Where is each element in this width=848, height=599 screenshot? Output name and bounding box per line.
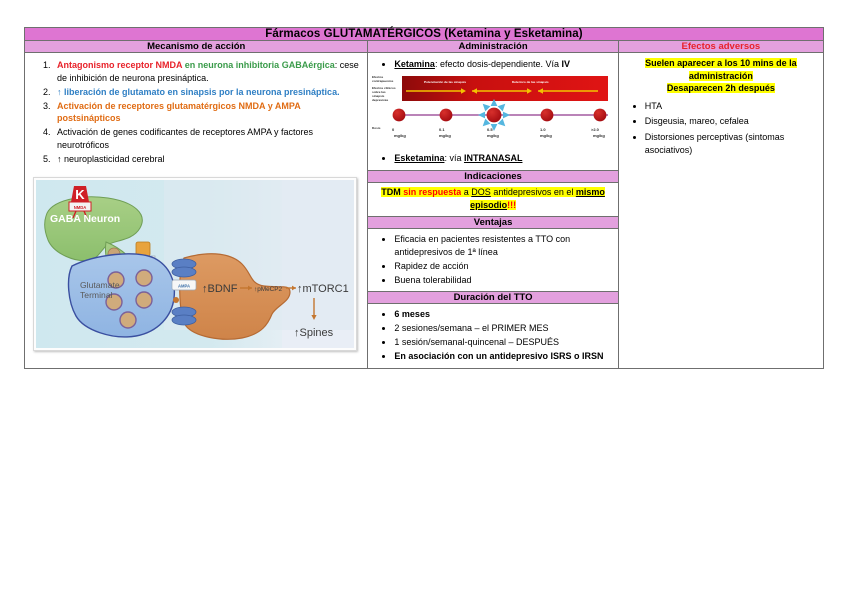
esketamina-bullet: Esketamina: vía INTRANASAL	[394, 152, 613, 164]
duracion-item: 2 sesiones/semana – el PRIMER MES	[394, 322, 613, 334]
efecto-adverso-item: Distorsiones perceptivas (sintomas asoci…	[645, 131, 817, 156]
svg-text:>2.0: >2.0	[591, 127, 600, 132]
svg-text:contrapuestos: contrapuestos	[372, 79, 394, 83]
indicaciones-part-0: TDM	[381, 187, 403, 197]
mechanism-item-1-part-1: en neurona inhibitoria GABAérgica	[185, 60, 335, 70]
document-page: Fármacos GLUTAMATÉRGICOS (Ketamina y Esk…	[0, 0, 848, 599]
mecanismo-cell: Antagonismo receptor NMDA en neurona inh…	[25, 53, 368, 369]
ketamina-text: : efecto dosis-dependiente. Vía	[435, 59, 562, 69]
esketamina-text: : vía	[444, 153, 464, 163]
dose-tick-labels: 0 mg/kg 0.1 mg/kg 0.5 mg/kg 1.0 mg/kg >2…	[392, 127, 605, 138]
svg-text:Potenciación de las sinapsis: Potenciación de las sinapsis	[424, 80, 466, 84]
ampa-receptor-tag-1: AMPA	[178, 284, 190, 289]
indicaciones-part-3: DOS	[471, 187, 491, 197]
header-mecanismo: Mecanismo de acción	[25, 41, 368, 53]
efectos-adversos-content: Suelen aparecer a los 10 mins de la admi…	[619, 53, 823, 163]
adverse-head-line3: Desaparecen 2h después	[667, 83, 775, 93]
esketamina-bullets: Esketamina: vía INTRANASAL	[372, 152, 613, 164]
ketamina-name: Ketamina	[394, 59, 435, 69]
duracion-list: 6 meses2 sesiones/semana – el PRIMER MES…	[372, 308, 613, 362]
svg-text:mg/kg: mg/kg	[439, 133, 451, 138]
mechanism-item-2: ↑ liberación de glutamato en sinapsis po…	[53, 86, 361, 99]
mechanism-item-4: Activación de genes codificantes de rece…	[53, 126, 361, 151]
duracion-cell: 6 meses2 sesiones/semana – el PRIMER MES…	[368, 304, 618, 369]
neuron-diagram: K NMDA GABA Neuron GABA	[33, 177, 357, 351]
body-row: Antagonismo receptor NMDA en neurona inh…	[25, 53, 824, 171]
header-duracion: Duración del TTO	[368, 292, 618, 304]
main-table: Fármacos GLUTAMATÉRGICOS (Ketamina y Esk…	[24, 27, 824, 369]
cascade-mtorc1: ↑mTORC1	[297, 283, 349, 295]
cascade-bdnf: ↑BDNF	[202, 283, 238, 295]
ventajas-item: Rapidez de acción	[394, 260, 613, 272]
mechanism-item-1: Antagonismo receptor NMDA en neurona inh…	[53, 59, 361, 84]
mecanismo-content: Antagonismo receptor NMDA en neurona inh…	[25, 53, 367, 169]
dose-point-1	[440, 109, 453, 122]
indicaciones-part-6: !!!	[507, 200, 516, 210]
efectos-adversos-cell: Suelen aparecer a los 10 mins de la admi…	[618, 53, 823, 369]
header-ventajas: Ventajas	[368, 217, 618, 229]
ventajas-list: Eficacia en pacientes resistentes a TTO …	[372, 233, 613, 286]
dose-point-4	[594, 109, 607, 122]
ketamina-route: IV	[562, 59, 571, 69]
ventajas-cell: Eficacia en pacientes resistentes a TTO …	[368, 229, 618, 292]
svg-text:mg/kg: mg/kg	[487, 133, 499, 138]
mechanism-item-5: ↑ neuroplasticidad cerebral	[53, 153, 361, 166]
neuron-diagram-canvas: K NMDA GABA Neuron GABA	[36, 180, 354, 348]
duracion-item: En asociación con un antidepresivo ISRS …	[394, 350, 613, 362]
esketamina-name: Esketamina	[394, 153, 444, 163]
svg-text:0.5: 0.5	[487, 127, 493, 132]
neuron-svg: K NMDA GABA Neuron GABA	[36, 180, 354, 348]
svg-text:mg/kg: mg/kg	[394, 133, 406, 138]
esketamina-route: INTRANASAL	[464, 153, 523, 163]
svg-text:0: 0	[392, 127, 395, 132]
svg-text:Dosis: Dosis	[372, 126, 381, 130]
adverse-head-line2: administración	[689, 71, 753, 81]
glutamate-terminal-label-1: Glutamate	[80, 280, 120, 290]
dose-point-3	[541, 109, 554, 122]
title-row: Fármacos GLUTAMATÉRGICOS (Ketamina y Esk…	[25, 28, 824, 41]
ketamina-bullet: Ketamina: efecto dosis-dependiente. Vía …	[394, 58, 613, 70]
mechanism-item-3-part-0: Activación de receptores glutamatérgicos…	[57, 101, 300, 124]
cascade-pmecp2: ↑pMeCP2	[254, 286, 283, 293]
svg-text:depresivas: depresivas	[372, 98, 388, 102]
indicaciones-text: TDM sin respuesta a DOS antidepresivos e…	[368, 183, 617, 216]
dose-response-figure: Efectos contrapuestos Efectos clínicos s…	[372, 73, 612, 148]
administracion-cell: Ketamina: efecto dosis-dependiente. Vía …	[368, 53, 618, 171]
administration-bullets: Ketamina: efecto dosis-dependiente. Vía …	[372, 58, 613, 70]
indicaciones-part-1: sin respuesta	[403, 187, 461, 197]
duracion-item: 1 sesión/semanal-quincenal – DESPUÉS	[394, 336, 613, 348]
svg-text:mg/kg: mg/kg	[593, 133, 605, 138]
page-title: Fármacos GLUTAMATÉRGICOS (Ketamina y Esk…	[25, 28, 824, 41]
mechanism-item-5-part-0: ↑ neuroplasticidad cerebral	[57, 154, 165, 164]
dose-point-0	[393, 109, 406, 122]
administracion-content: Ketamina: efecto dosis-dependiente. Vía …	[368, 53, 617, 170]
dose-left-labels: Efectos contrapuestos Efectos clínicos s…	[372, 75, 396, 130]
dose-figure-svg: Efectos contrapuestos Efectos clínicos s…	[372, 73, 612, 148]
k-sub-label: NMDA	[74, 205, 87, 210]
header-administracion: Administración	[368, 41, 618, 53]
indicaciones-cell: TDM sin respuesta a DOS antidepresivos e…	[368, 183, 618, 217]
dose-point-2	[487, 108, 502, 123]
mechanism-item-3: Activación de receptores glutamatérgicos…	[53, 100, 361, 125]
mechanism-item-1-part-0: Antagonismo receptor NMDA	[57, 60, 185, 70]
k-label: K	[75, 187, 85, 202]
svg-text:1.0: 1.0	[540, 127, 546, 132]
header-efectos-adversos: Efectos adversos	[618, 41, 823, 53]
duracion-content: 6 meses2 sesiones/semana – el PRIMER MES…	[368, 304, 617, 368]
svg-text:Deterioro de las sinapsis: Deterioro de las sinapsis	[512, 80, 549, 84]
ventajas-item: Buena tolerabilidad	[394, 274, 613, 286]
efecto-adverso-item: HTA	[645, 100, 817, 113]
ventajas-content: Eficacia en pacientes resistentes a TTO …	[368, 229, 617, 291]
indicaciones-part-2: a	[461, 187, 471, 197]
mechanism-list: Antagonismo receptor NMDA en neurona inh…	[29, 59, 361, 166]
svg-text:0.1: 0.1	[439, 127, 445, 132]
ventajas-item: Eficacia en pacientes resistentes a TTO …	[394, 233, 613, 258]
mechanism-item-4-part-0: Activación de genes codificantes de rece…	[57, 127, 313, 150]
efecto-adverso-item: Disgeusia, mareo, cefalea	[645, 115, 817, 128]
indicaciones-part-4: antidepresivos en el	[491, 187, 576, 197]
glutamate-terminal-label-2: Terminal	[80, 290, 113, 300]
duracion-item: 6 meses	[394, 308, 613, 320]
adverse-onset-note: Suelen aparecer a los 10 mins de la admi…	[625, 57, 817, 95]
svg-text:mg/kg: mg/kg	[540, 133, 552, 138]
adverse-head-line1: Suelen aparecer a los 10 mins de la	[645, 58, 797, 68]
cascade-spines: ↑Spines	[294, 327, 334, 339]
mechanism-item-2-part-0: ↑ liberación de glutamato en sinapsis po…	[57, 87, 340, 97]
adverse-list: HTADisgeusia, mareo, cefaleaDistorsiones…	[625, 100, 817, 156]
gaba-neuron-label: GABA Neuron	[50, 213, 120, 225]
column-header-row: Mecanismo de acción Administración Efect…	[25, 41, 824, 53]
header-indicaciones: Indicaciones	[368, 171, 618, 183]
